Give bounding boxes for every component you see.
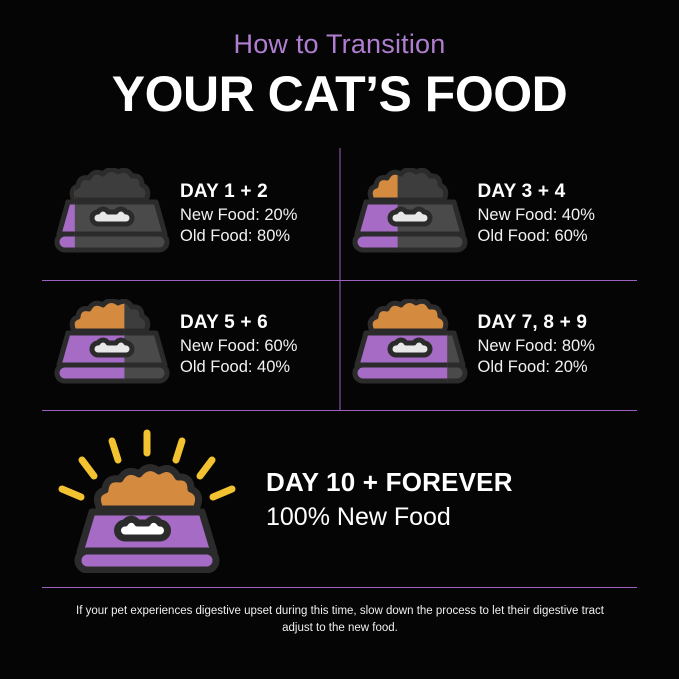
step-new-food: New Food: 80% [478,336,595,357]
footer-divider [42,587,637,588]
final-day-label: DAY 10 + FOREVER [266,468,513,498]
page-title: YOUR CAT’S FOOD [0,66,679,122]
final-food-label: 100% New Food [266,502,513,532]
footer-note: If your pet experiences digestive upset … [60,603,620,636]
bone-emblem-icon [92,209,132,224]
step-card-day-3-4: DAY 3 + 4 New Food: 40% Old Food: 60% [340,148,638,280]
bone-emblem-icon [92,340,132,355]
bowl-icon-wrap [340,168,472,260]
step-card-day-7-8-9: DAY 7, 8 + 9 New Food: 80% Old Food: 20% [340,280,638,412]
cat-food-bowl-sunburst-icon [52,427,242,573]
step-old-food: Old Food: 20% [478,357,595,378]
step-text: DAY 3 + 4 New Food: 40% Old Food: 60% [472,181,595,247]
bone-emblem-icon [390,209,430,224]
step-new-food: New Food: 40% [478,205,595,226]
cat-food-bowl-icon [50,299,174,391]
bowl-icon-wrap [340,299,472,391]
bowl-icon-wrap [42,168,174,260]
bowl-icon-wrap [42,299,174,391]
step-text: DAY 1 + 2 New Food: 20% Old Food: 80% [174,181,297,247]
step-day-label: DAY 5 + 6 [180,312,297,334]
step-day-label: DAY 1 + 2 [180,181,297,203]
step-new-food: New Food: 60% [180,336,297,357]
step-card-day-1-2: DAY 1 + 2 New Food: 20% Old Food: 80% [42,148,340,280]
step-old-food: Old Food: 40% [180,357,297,378]
step-text: DAY 5 + 6 New Food: 60% Old Food: 40% [174,312,297,378]
bone-emblem-icon [118,519,168,538]
cat-food-bowl-icon [50,168,174,260]
step-card-day-5-6: DAY 5 + 6 New Food: 60% Old Food: 40% [42,280,340,412]
step-new-food: New Food: 20% [180,205,297,226]
infographic-poster: How to Transition YOUR CAT’S FOOD [0,0,679,679]
step-old-food: Old Food: 60% [478,226,595,247]
bone-emblem-icon [390,340,430,355]
step-day-label: DAY 3 + 4 [478,181,595,203]
page-subtitle: How to Transition [0,30,679,60]
final-step-text: DAY 10 + FOREVER 100% New Food [252,468,513,532]
final-bowl-wrap [42,427,252,573]
transition-steps-grid: DAY 1 + 2 New Food: 20% Old Food: 80% [42,148,637,411]
step-old-food: Old Food: 80% [180,226,297,247]
cat-food-bowl-icon [348,299,472,391]
cat-food-bowl-icon [348,168,472,260]
step-text: DAY 7, 8 + 9 New Food: 80% Old Food: 20% [472,312,595,378]
step-day-label: DAY 7, 8 + 9 [478,312,595,334]
final-step-row: DAY 10 + FOREVER 100% New Food [42,425,637,575]
header: How to Transition YOUR CAT’S FOOD [0,30,679,122]
